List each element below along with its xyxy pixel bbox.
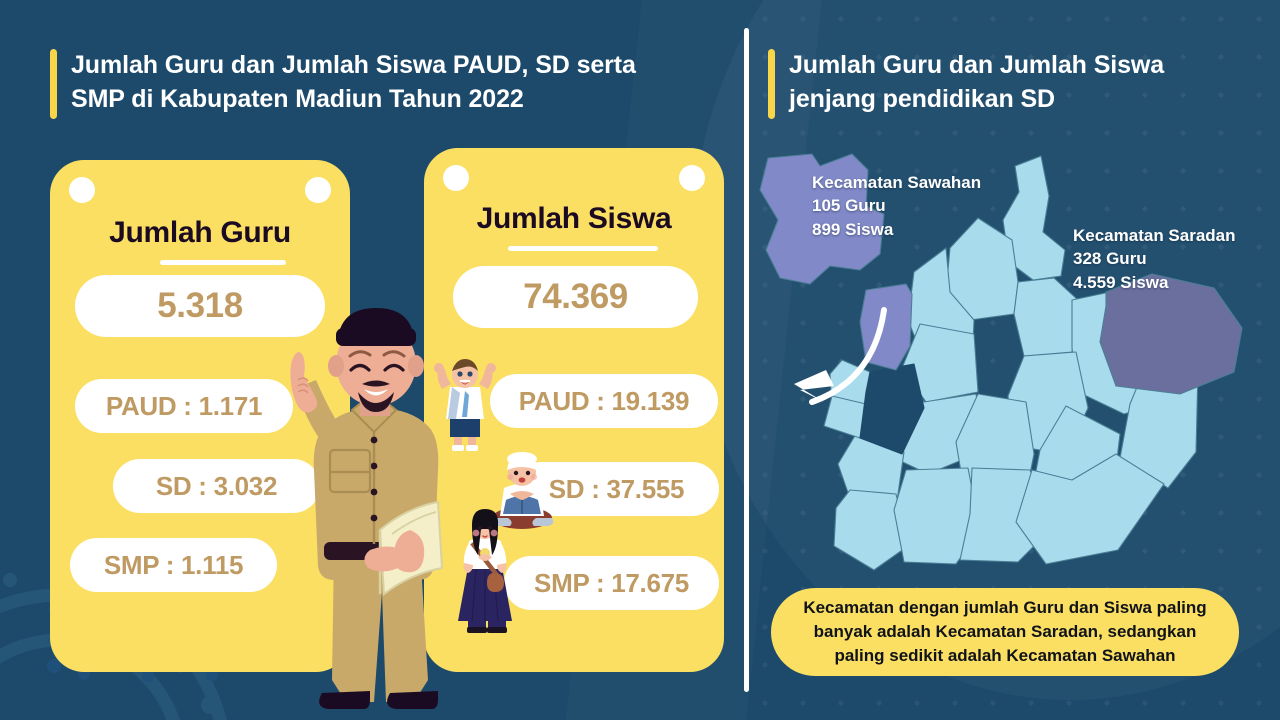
card-pin-hole-right	[679, 165, 705, 191]
map-label-sawahan: Kecamatan Sawahan 105 Guru 899 Siswa	[812, 171, 981, 241]
panel-divider	[744, 28, 749, 692]
right-panel-title: Jumlah Guru dan Jumlah Siswa jenjang pen…	[768, 49, 1238, 119]
left-title-text: Jumlah Guru dan Jumlah Siswa PAUD, SD se…	[71, 49, 636, 116]
stat-card-jumlah-siswa: Jumlah Siswa 74.369 PAUD : 19.139 SD : 3…	[424, 148, 724, 672]
card-title-guru: Jumlah Guru	[50, 216, 350, 250]
right-title-text: Jumlah Guru dan Jumlah Siswa jenjang pen…	[789, 49, 1164, 116]
card-pin-hole-left	[443, 165, 469, 191]
card-title-underline	[508, 246, 658, 251]
guru-total-value: 5.318	[75, 275, 325, 337]
siswa-total-value: 74.369	[453, 266, 698, 328]
card-pin-hole-left	[69, 177, 95, 203]
guru-sd-value: SD : 3.032	[113, 459, 320, 513]
left-panel-title: Jumlah Guru dan Jumlah Siswa PAUD, SD se…	[50, 49, 710, 119]
card-title-underline	[160, 260, 286, 265]
card-pin-hole-right	[305, 177, 331, 203]
siswa-smp-value: SMP : 17.675	[504, 556, 719, 610]
title-accent-bar	[50, 49, 57, 119]
map-summary-caption: Kecamatan dengan jumlah Guru dan Siswa p…	[771, 588, 1239, 676]
map-label-saradan: Kecamatan Saradan 328 Guru 4.559 Siswa	[1073, 224, 1236, 294]
siswa-sd-value: SD : 37.555	[514, 462, 719, 516]
siswa-paud-value: PAUD : 19.139	[490, 374, 718, 428]
stat-card-jumlah-guru: Jumlah Guru 5.318 PAUD : 1.171 SD : 3.03…	[50, 160, 350, 672]
guru-paud-value: PAUD : 1.171	[75, 379, 293, 433]
guru-smp-value: SMP : 1.115	[70, 538, 277, 592]
title-accent-bar	[768, 49, 775, 119]
caption-text: Kecamatan dengan jumlah Guru dan Siswa p…	[803, 596, 1206, 668]
card-title-siswa: Jumlah Siswa	[424, 202, 724, 236]
infographic-canvas: Jumlah Guru dan Jumlah Siswa PAUD, SD se…	[0, 0, 1280, 720]
